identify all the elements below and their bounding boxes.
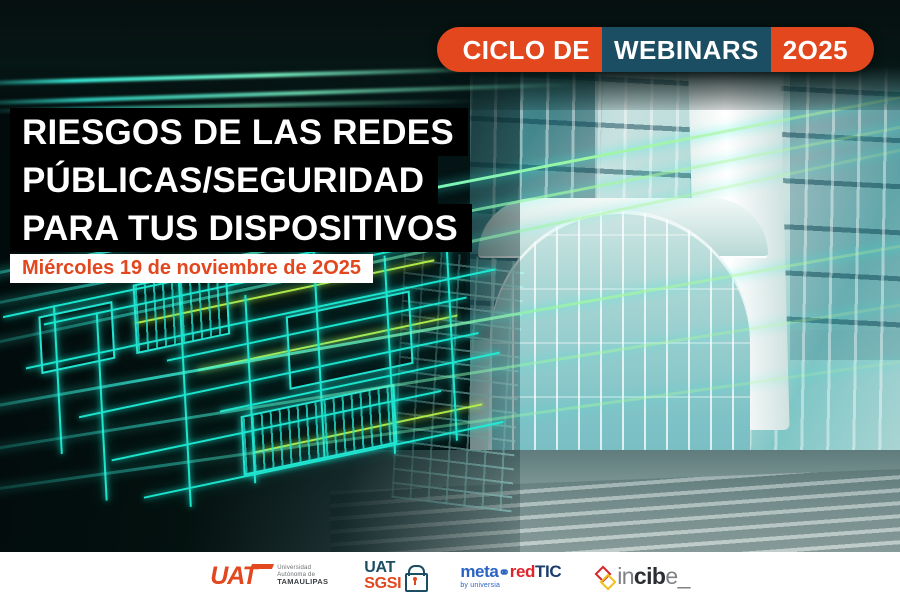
metaredtic-wordmark: meta⚭redTIC by universia xyxy=(460,563,561,589)
title-line-1: RIESGOS DE LAS REDES xyxy=(10,108,468,156)
incibe-cib: cib xyxy=(634,563,665,589)
event-date: Miércoles 19 de noviembre de 2O25 xyxy=(22,257,361,279)
link-icon: ⚭ xyxy=(498,564,509,580)
metaredtic-tagline: by universia xyxy=(460,582,561,589)
badge-webinars: WEBINARS xyxy=(602,27,771,72)
webinar-banner: CICLO DE WEBINARS 2O25 RIESGOS DE LAS RE… xyxy=(0,0,900,600)
sgsi-line-sgsi: SGSI xyxy=(364,576,401,592)
badge-year: 2O25 xyxy=(771,27,874,72)
background-image xyxy=(0,0,900,600)
event-date-strip: Miércoles 19 de noviembre de 2O25 xyxy=(10,254,373,283)
logo-metaredtic: meta⚭redTIC by universia xyxy=(460,563,561,589)
logo-incibe: incibe_ xyxy=(597,565,690,588)
title-line-3: PARA TUS DISPOSITIVOS xyxy=(10,204,472,252)
uat-logo-icon: UAT xyxy=(210,564,272,588)
incibe-in: in xyxy=(617,563,634,589)
badge-ciclo-de: CICLO DE xyxy=(437,27,602,72)
sgsi-line-uat: UAT xyxy=(364,560,401,576)
incibe-wordmark: incibe_ xyxy=(617,565,690,588)
incibe-cursor: _ xyxy=(678,563,690,589)
incibe-e: e xyxy=(665,563,677,589)
padlock-icon xyxy=(405,565,424,588)
webinar-series-badge: CICLO DE WEBINARS 2O25 xyxy=(437,27,874,72)
uat-fulltext: Universidad Autónoma de TAMAULIPAS xyxy=(277,565,328,586)
logo-uat-sgsi: UAT SGSI xyxy=(364,560,424,592)
sgsi-wordmark: UAT SGSI xyxy=(364,560,401,592)
metaredtic-meta: meta xyxy=(460,562,498,581)
title-block: RIESGOS DE LAS REDES PÚBLICAS/SEGURIDAD … xyxy=(10,108,472,283)
incibe-diamond-icon xyxy=(597,567,612,586)
logo-uat-tamaulipas: UAT Universidad Autónoma de TAMAULIPAS xyxy=(210,564,328,588)
sponsor-logo-bar: UAT Universidad Autónoma de TAMAULIPAS U… xyxy=(0,552,900,600)
metaredtic-tic: TIC xyxy=(535,562,561,581)
uat-accent-bar xyxy=(250,564,274,569)
uat-line-3: TAMAULIPAS xyxy=(277,578,328,586)
metaredtic-red: red xyxy=(510,562,535,581)
title-line-2: PÚBLICAS/SEGURIDAD xyxy=(10,156,438,204)
